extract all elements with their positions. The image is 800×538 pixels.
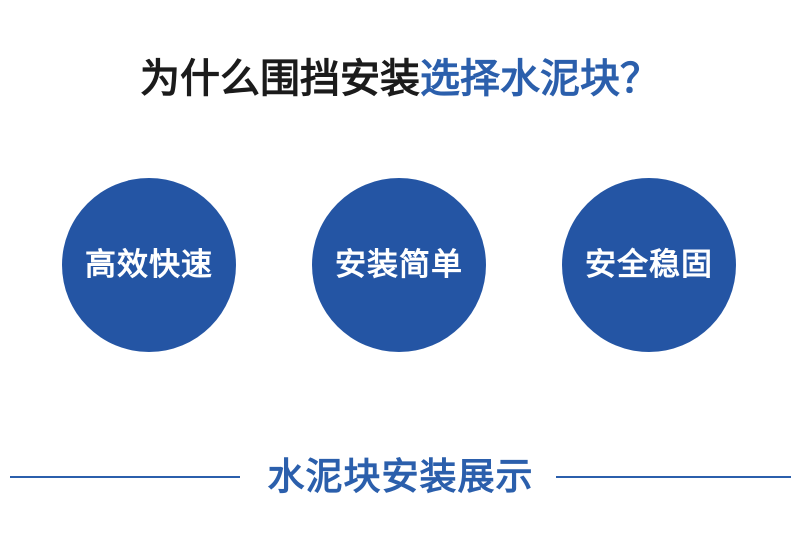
page-title-primary: 为什么围挡安装 — [140, 57, 420, 101]
feature-circle-2-label: 安装简单 — [335, 248, 463, 282]
footer-rule-right-icon — [556, 476, 791, 478]
feature-circle-3[interactable]: 安全稳固 — [562, 178, 736, 352]
feature-circle-row: 高效快速 安装简单 安全稳固 — [62, 178, 736, 352]
feature-circle-1-label: 高效快速 — [85, 248, 213, 282]
footer-section-heading: 水泥块安装展示 — [0, 452, 800, 502]
feature-circle-1[interactable]: 高效快速 — [62, 178, 236, 352]
feature-circle-2[interactable]: 安装简单 — [312, 178, 486, 352]
page-title-accent: 选择水泥块？ — [420, 57, 660, 101]
feature-circle-3-label: 安全稳固 — [585, 248, 713, 282]
footer-rule-left-icon — [10, 476, 240, 478]
poster-canvas: 为什么围挡安装选择水泥块？ 高效快速 安装简单 安全稳固 水泥块安装展示 — [0, 0, 800, 538]
footer-title: 水泥块安装展示 — [268, 455, 534, 499]
page-title: 为什么围挡安装选择水泥块？ — [0, 55, 800, 103]
